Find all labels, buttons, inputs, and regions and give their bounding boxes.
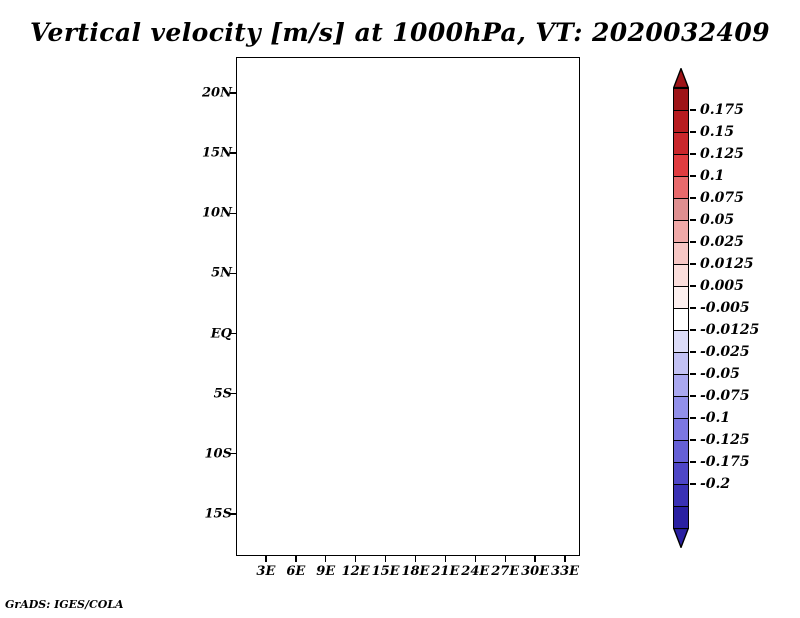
x-axis-label: 18E [401,564,429,579]
y-axis-label: 20N [202,86,232,101]
colorbar-tick [690,439,696,440]
colorbar-cell [673,462,689,485]
colorbar-tick [690,175,696,176]
y-axis-label: 5S [214,386,232,401]
colorbar-tick [690,307,696,308]
colorbar-label: 0.075 [700,190,744,206]
y-axis-label: 15S [205,506,232,521]
colorbar-label: -0.05 [700,366,740,382]
x-axis-label: 9E [316,564,335,579]
colorbar-tick [690,329,696,330]
colorbar-cells [673,88,689,528]
colorbar-cell [673,198,689,221]
colorbar-tick [690,461,696,462]
colorbar-label: 0.1 [700,168,724,184]
colorbar-cell [673,110,689,133]
x-axis-tick [385,556,386,562]
colorbar-tick [690,483,696,484]
y-axis-label: 5N [211,266,232,281]
colorbar-cell [673,286,689,309]
colorbar-label: -0.025 [700,344,750,360]
colorbar-cell [673,264,689,287]
colorbar-tick [690,263,696,264]
colorbar-cell [673,484,689,507]
x-axis-label: 15E [372,564,400,579]
y-axis-label: 10N [202,206,232,221]
y-axis-label: 15N [202,146,232,161]
colorbar-cell [673,132,689,155]
x-axis-tick [475,556,476,562]
colorbar-label: 0.15 [700,124,734,140]
colorbar-label: 0.175 [700,102,744,118]
colorbar-tick [690,197,696,198]
colorbar-cell [673,154,689,177]
x-axis-tick [295,556,296,562]
colorbar-cell [673,308,689,331]
colorbar-tick [690,241,696,242]
x-axis-tick [325,556,326,562]
colorbar-cell [673,330,689,353]
colorbar-cell [673,506,689,529]
x-axis-label: 33E [551,564,579,579]
x-axis-tick [415,556,416,562]
x-axis-tick [564,556,565,562]
colorbar-label: -0.175 [700,454,750,470]
colorbar-tick [690,153,696,154]
colorbar-label: -0.0125 [700,322,759,338]
colorbar-label: 0.0125 [700,256,754,272]
x-axis-label: 30E [521,564,549,579]
colorbar-label: -0.125 [700,432,750,448]
colorbar-cell [673,396,689,419]
x-axis-label: 21E [431,564,459,579]
x-axis-tick [355,556,356,562]
grads-plot-page: Vertical velocity [m/s] at 1000hPa, VT: … [0,0,800,618]
colorbar-cell [673,242,689,265]
y-axis-label: 10S [205,446,232,461]
colorbar-cell [673,418,689,441]
country-borders-overlay [237,58,580,556]
map-plot-area [236,57,580,556]
footer-credit: GrADS: IGES/COLA [5,598,124,611]
colorbar-cell [673,440,689,463]
x-axis-label: 6E [286,564,305,579]
x-axis-tick [534,556,535,562]
colorbar-cell [673,220,689,243]
colorbar-tick [690,351,696,352]
colorbar-tick [690,417,696,418]
colorbar-label: -0.2 [700,476,730,492]
x-axis-tick [265,556,266,562]
colorbar-tick [690,395,696,396]
colorbar-label: -0.1 [700,410,730,426]
colorbar-tick [690,373,696,374]
page-title: Vertical velocity [m/s] at 1000hPa, VT: … [0,18,800,47]
colorbar-tick [690,131,696,132]
colorbar-label: 0.025 [700,234,744,250]
colorbar-arrow-top [673,68,689,88]
x-axis-label: 12E [342,564,370,579]
colorbar-cell [673,374,689,397]
colorbar-cell [673,352,689,375]
colorbar-cell [673,88,689,111]
colorbar-tick [690,219,696,220]
colorbar-label: 0.125 [700,146,744,162]
x-axis-label: 24E [461,564,489,579]
x-axis-label: 27E [491,564,519,579]
colorbar-label: -0.005 [700,300,750,316]
x-axis-tick [445,556,446,562]
x-axis-tick [505,556,506,562]
colorbar: 0.1750.150.1250.10.0750.050.0250.01250.0… [673,68,689,548]
colorbar-arrow-bottom [673,528,689,548]
y-axis-label: EQ [211,326,232,341]
colorbar-label: 0.05 [700,212,734,228]
colorbar-label: 0.005 [700,278,744,294]
x-axis-label: 3E [256,564,275,579]
colorbar-tick [690,109,696,110]
colorbar-cell [673,176,689,199]
colorbar-label: -0.075 [700,388,750,404]
colorbar-tick [690,285,696,286]
